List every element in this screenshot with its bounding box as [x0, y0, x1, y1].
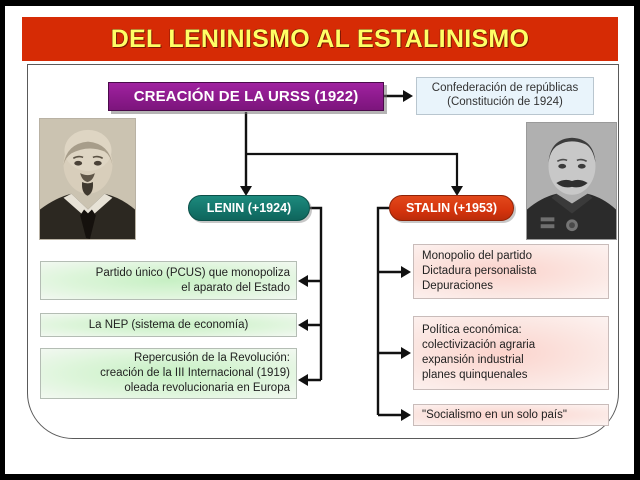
stalin-point-3-line-1: "Socialismo en un solo país"	[422, 408, 600, 423]
lenin-point-3[interactable]: Repercusión de la Revolución: creación d…	[40, 348, 297, 399]
node-confederacion-line-1: Confederación de repúblicas	[421, 82, 589, 96]
lenin-point-3-line-1: Repercusión de la Revolución:	[47, 351, 290, 366]
lenin-point-3-line-3: oleada revolucionaria en Europa	[47, 381, 290, 396]
lenin-point-1[interactable]: Partido único (PCUS) que monopoliza el a…	[40, 261, 297, 300]
node-confederacion-line-2: (Constitución de 1924)	[421, 96, 589, 110]
node-lenin-label: LENIN (+1924)	[207, 201, 291, 215]
stalin-point-3[interactable]: "Socialismo en un solo país"	[413, 404, 609, 426]
stalin-portrait-photo	[526, 122, 617, 240]
node-lenin[interactable]: LENIN (+1924)	[188, 195, 310, 221]
node-stalin-label: STALIN (+1953)	[406, 201, 497, 215]
lenin-point-2-line-1: La NEP (sistema de economía)	[47, 318, 290, 333]
stalin-point-1[interactable]: Monopolio del partido Dictadura personal…	[413, 244, 609, 299]
node-creacion-urss-label: CREACIÓN DE LA URSS (1922)	[134, 88, 359, 106]
slide-canvas: DEL LENINISMO AL ESTALINISMO	[0, 0, 640, 480]
stalin-point-1-line-3: Depuraciones	[422, 279, 600, 294]
lenin-point-2[interactable]: La NEP (sistema de economía)	[40, 313, 297, 337]
slide-title-banner: DEL LENINISMO AL ESTALINISMO	[22, 17, 618, 61]
stalin-point-2[interactable]: Política económica: colectivización agra…	[413, 316, 609, 390]
page-title: DEL LENINISMO AL ESTALINISMO	[22, 17, 618, 61]
node-stalin[interactable]: STALIN (+1953)	[389, 195, 514, 221]
stalin-point-2-line-3: expansión industrial	[422, 353, 600, 368]
node-confederacion[interactable]: Confederación de repúblicas (Constitució…	[416, 77, 594, 115]
node-creacion-urss[interactable]: CREACIÓN DE LA URSS (1922)	[108, 82, 384, 111]
stalin-point-2-line-4: planes quinquenales	[422, 368, 600, 383]
lenin-point-1-line-2: el aparato del Estado	[47, 281, 290, 296]
lenin-point-3-line-2: creación de la III Internacional (1919)	[47, 366, 290, 381]
stalin-point-2-line-1: Política económica:	[422, 323, 600, 338]
lenin-portrait-photo	[39, 118, 136, 240]
stalin-point-2-line-2: colectivización agraria	[422, 338, 600, 353]
lenin-point-1-line-1: Partido único (PCUS) que monopoliza	[47, 266, 290, 281]
stalin-point-1-line-2: Dictadura personalista	[422, 264, 600, 279]
stalin-point-1-line-1: Monopolio del partido	[422, 249, 600, 264]
